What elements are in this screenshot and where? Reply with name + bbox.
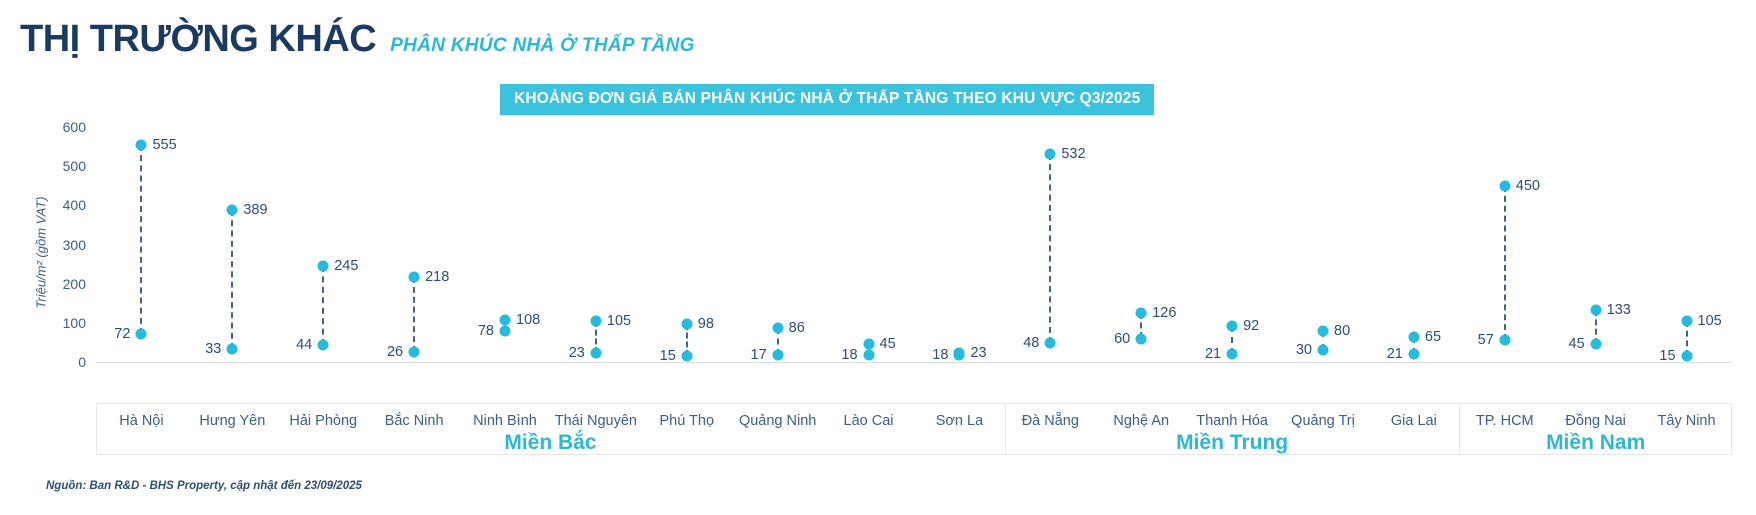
data-label-low: 30 [1296, 342, 1312, 358]
data-label-low: 60 [1114, 331, 1130, 347]
data-label-high: 98 [698, 316, 714, 332]
data-point-low [1499, 334, 1510, 345]
category-label: Đồng Nai [1565, 413, 1625, 429]
category-label: Tây Ninh [1658, 413, 1716, 429]
data-label-high: 450 [1516, 178, 1540, 194]
data-point-high [1681, 315, 1692, 326]
data-point-low [590, 347, 601, 358]
data-point-low [1590, 339, 1601, 350]
data-point-high [1499, 180, 1510, 191]
y-axis-tick: 200 [38, 276, 86, 292]
category-label: Sơn La [936, 413, 983, 429]
data-label-low: 72 [114, 326, 130, 342]
data-point-low [136, 328, 147, 339]
category-label: Gia Lai [1391, 413, 1437, 429]
data-label-low: 21 [1205, 346, 1221, 362]
data-label-low: 26 [387, 344, 403, 360]
category-label: Phú Thọ [659, 413, 714, 429]
data-label-high: 23 [970, 345, 986, 361]
data-label-low: 18 [841, 347, 857, 363]
range-stem [413, 277, 415, 352]
category-label: Quảng Trị [1291, 413, 1355, 429]
data-label-low: 15 [660, 348, 676, 364]
data-label-low: 44 [296, 337, 312, 353]
data-label-low: 15 [1659, 348, 1675, 364]
data-label-low: 57 [1478, 332, 1494, 348]
data-label-high: 126 [1152, 305, 1176, 321]
category-label: Thái Nguyên [555, 413, 637, 429]
data-label-high: 389 [243, 202, 267, 218]
y-axis-label: Triệu/m² (gồm VAT) [34, 168, 49, 338]
data-point-low [500, 326, 511, 337]
category-label: Hải Phòng [289, 413, 357, 429]
category-label: Ninh Bình [473, 413, 537, 429]
data-point-low [772, 350, 783, 361]
data-point-low [1318, 345, 1329, 356]
category-label: Đà Nẵng [1022, 413, 1079, 429]
data-label-high: 108 [516, 312, 540, 328]
data-point-high [1136, 307, 1147, 318]
data-point-low [318, 339, 329, 350]
data-label-low: 48 [1023, 335, 1039, 351]
y-axis-tick: 400 [38, 197, 86, 213]
data-point-high [1045, 148, 1056, 159]
data-label-low: 33 [205, 341, 221, 357]
data-label-high: 65 [1425, 329, 1441, 345]
data-label-high: 555 [152, 137, 176, 153]
data-point-high [318, 261, 329, 272]
data-point-low [409, 346, 420, 357]
data-point-high [227, 204, 238, 215]
data-point-high [1318, 325, 1329, 336]
y-axis-tick: 600 [38, 119, 86, 135]
category-label: Lào Cai [844, 413, 894, 429]
category-label: Quảng Ninh [739, 413, 816, 429]
data-label-high: 86 [789, 320, 805, 336]
source-note: Nguồn: Ban R&D - BHS Property, cập nhật … [46, 480, 362, 492]
data-point-low [227, 344, 238, 355]
data-label-high: 105 [607, 313, 631, 329]
range-stem [231, 210, 233, 349]
x-axis-line [96, 362, 1732, 363]
data-point-low [1136, 333, 1147, 344]
data-label-low: 45 [1569, 336, 1585, 352]
data-point-low [1408, 348, 1419, 359]
chart-page: THỊ TRƯỜNG KHÁC PHÂN KHÚC NHÀ Ở THẤP TẦN… [0, 0, 1756, 515]
data-point-high [590, 315, 601, 326]
region-label: Miền Bắc [504, 431, 596, 455]
category-axis-box [96, 403, 1732, 455]
category-label: Thanh Hóa [1196, 413, 1268, 429]
data-point-high [863, 339, 874, 350]
data-label-high: 45 [880, 336, 896, 352]
data-point-low [1681, 351, 1692, 362]
data-label-high: 245 [334, 258, 358, 274]
data-point-low [954, 349, 965, 360]
data-point-high [681, 318, 692, 329]
y-axis-tick: 300 [38, 237, 86, 253]
range-stem [1049, 154, 1051, 344]
category-label: Hưng Yên [199, 413, 265, 429]
data-point-high [409, 271, 420, 282]
y-axis-tick: 0 [38, 354, 86, 370]
data-label-low: 18 [932, 347, 948, 363]
region-label: Miền Nam [1546, 431, 1645, 455]
category-label: TP. HCM [1476, 413, 1534, 429]
data-label-high: 133 [1607, 302, 1631, 318]
data-point-high [1408, 331, 1419, 342]
range-stem [140, 145, 142, 334]
data-label-low: 78 [478, 323, 494, 339]
region-label: Miền Trung [1176, 431, 1288, 455]
y-axis-tick: 100 [38, 315, 86, 331]
category-label: Hà Nội [119, 413, 163, 429]
data-label-high: 532 [1061, 146, 1085, 162]
data-label-high: 218 [425, 269, 449, 285]
range-stem [1504, 186, 1506, 340]
range-stem [322, 266, 324, 345]
data-point-low [681, 351, 692, 362]
data-point-low [1045, 338, 1056, 349]
data-label-low: 23 [569, 345, 585, 361]
data-point-high [772, 323, 783, 334]
data-point-high [136, 139, 147, 150]
data-label-low: 17 [751, 347, 767, 363]
data-point-high [1227, 320, 1238, 331]
region-divider [1005, 404, 1006, 454]
category-label: Bắc Ninh [385, 413, 444, 429]
category-label: Nghệ An [1113, 413, 1169, 429]
data-label-low: 21 [1387, 346, 1403, 362]
data-label-high: 105 [1698, 313, 1722, 329]
data-point-high [1590, 304, 1601, 315]
data-point-low [863, 349, 874, 360]
data-point-low [1227, 348, 1238, 359]
data-label-high: 92 [1243, 318, 1259, 334]
y-axis-tick: 500 [38, 158, 86, 174]
data-point-high [500, 314, 511, 325]
region-divider [1459, 404, 1460, 454]
data-label-high: 80 [1334, 323, 1350, 339]
